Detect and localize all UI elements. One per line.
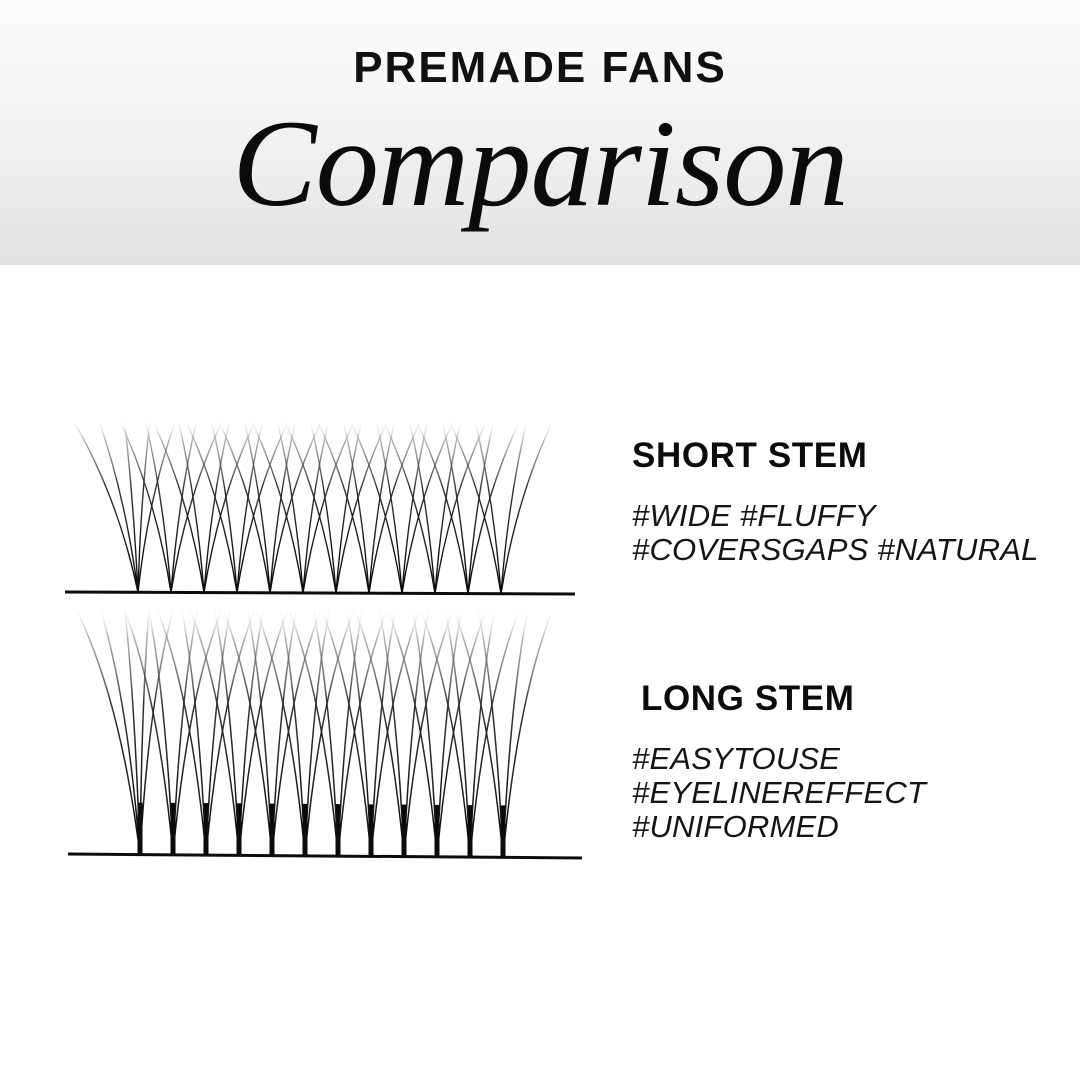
long-stem-lash-fan-diagram [52,648,600,873]
short-stem-tags: #WIDE #FLUFFY #COVERSGAPS #NATURAL [632,499,1062,567]
spec-block-short-stem: SHORT STEM #WIDE #FLUFFY #COVERSGAPS #NA… [632,438,1062,567]
long-stem-heading: LONG STEM [632,681,1062,716]
poster-canvas: PREMADE FANS Comparison SHORT STEM #WIDE… [0,0,1080,1080]
long-stem-tags: #EASYTOUSE #EYELINEREFFECT #UNIFORMED [632,742,1062,844]
page-title-kicker: PREMADE FANS [0,46,1080,90]
short-stem-lash-fan-diagram [52,408,592,608]
page-title-script: Comparison [0,96,1080,232]
spec-block-long-stem: LONG STEM #EASYTOUSE #EYELINEREFFECT #UN… [632,681,1062,844]
lash-strip-baseline [65,592,575,594]
short-stem-heading: SHORT STEM [632,438,1062,473]
